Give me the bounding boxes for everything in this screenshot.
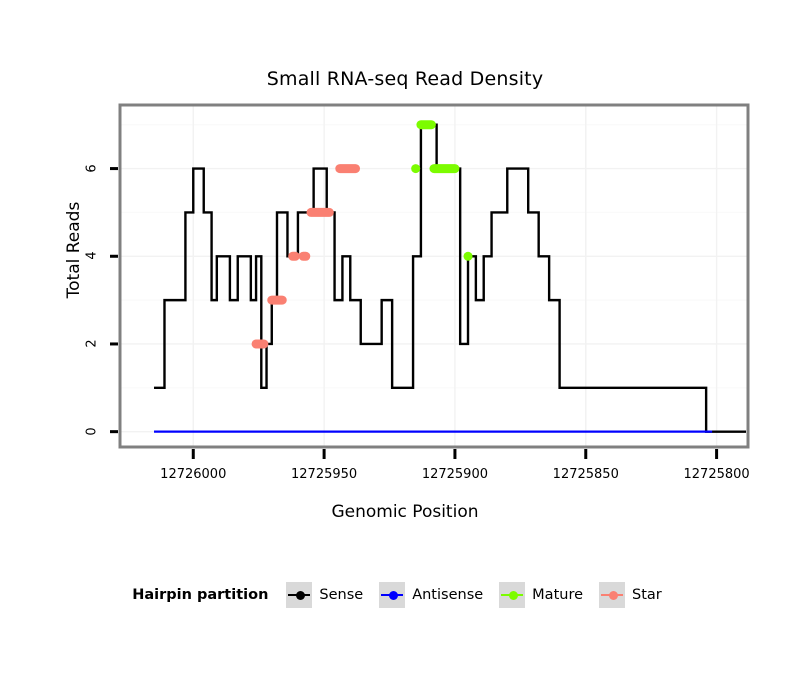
legend-key-star xyxy=(599,582,625,608)
chart-root: Small RNA-seq Read Density Total Reads G… xyxy=(0,0,810,690)
legend-point-swatch xyxy=(509,591,518,600)
legend-key-sense xyxy=(286,582,312,608)
legend-symbol-star xyxy=(599,582,625,608)
y-tick-label: 6 xyxy=(85,158,100,178)
legend-entry-mature[interactable]: Mature xyxy=(499,582,583,608)
legend-title: Hairpin partition xyxy=(132,587,268,603)
legend-label: Antisense xyxy=(412,587,483,603)
x-tick-label: 12725800 xyxy=(667,467,767,482)
legend-entry-star[interactable]: Star xyxy=(599,582,662,608)
y-tick-label: 0 xyxy=(85,421,100,441)
legend-label: Star xyxy=(632,587,662,603)
x-tick-label: 12725850 xyxy=(536,467,636,482)
legend-entry-antisense[interactable]: Antisense xyxy=(379,582,483,608)
legend-label: Sense xyxy=(319,587,363,603)
legend-label: Mature xyxy=(532,587,583,603)
legend-symbol-antisense xyxy=(379,582,405,608)
x-tick-label: 12726000 xyxy=(143,467,243,482)
y-tick-label: 2 xyxy=(85,333,100,353)
legend-key-antisense xyxy=(379,582,405,608)
legend-entries: SenseAntisenseMatureStar xyxy=(286,582,677,608)
chart-legend: Hairpin partition SenseAntisenseMatureSt… xyxy=(0,582,810,608)
x-tick-label: 12725900 xyxy=(405,467,505,482)
legend-point-swatch xyxy=(609,591,618,600)
legend-key-mature xyxy=(499,582,525,608)
legend-point-swatch xyxy=(389,591,398,600)
legend-symbol-sense xyxy=(286,582,312,608)
legend-point-swatch xyxy=(296,591,305,600)
panel-background xyxy=(120,105,748,447)
legend-symbol-mature xyxy=(499,582,525,608)
x-tick-label: 12725950 xyxy=(274,467,374,482)
legend-entry-sense[interactable]: Sense xyxy=(286,582,363,608)
y-tick-label: 4 xyxy=(85,246,100,266)
